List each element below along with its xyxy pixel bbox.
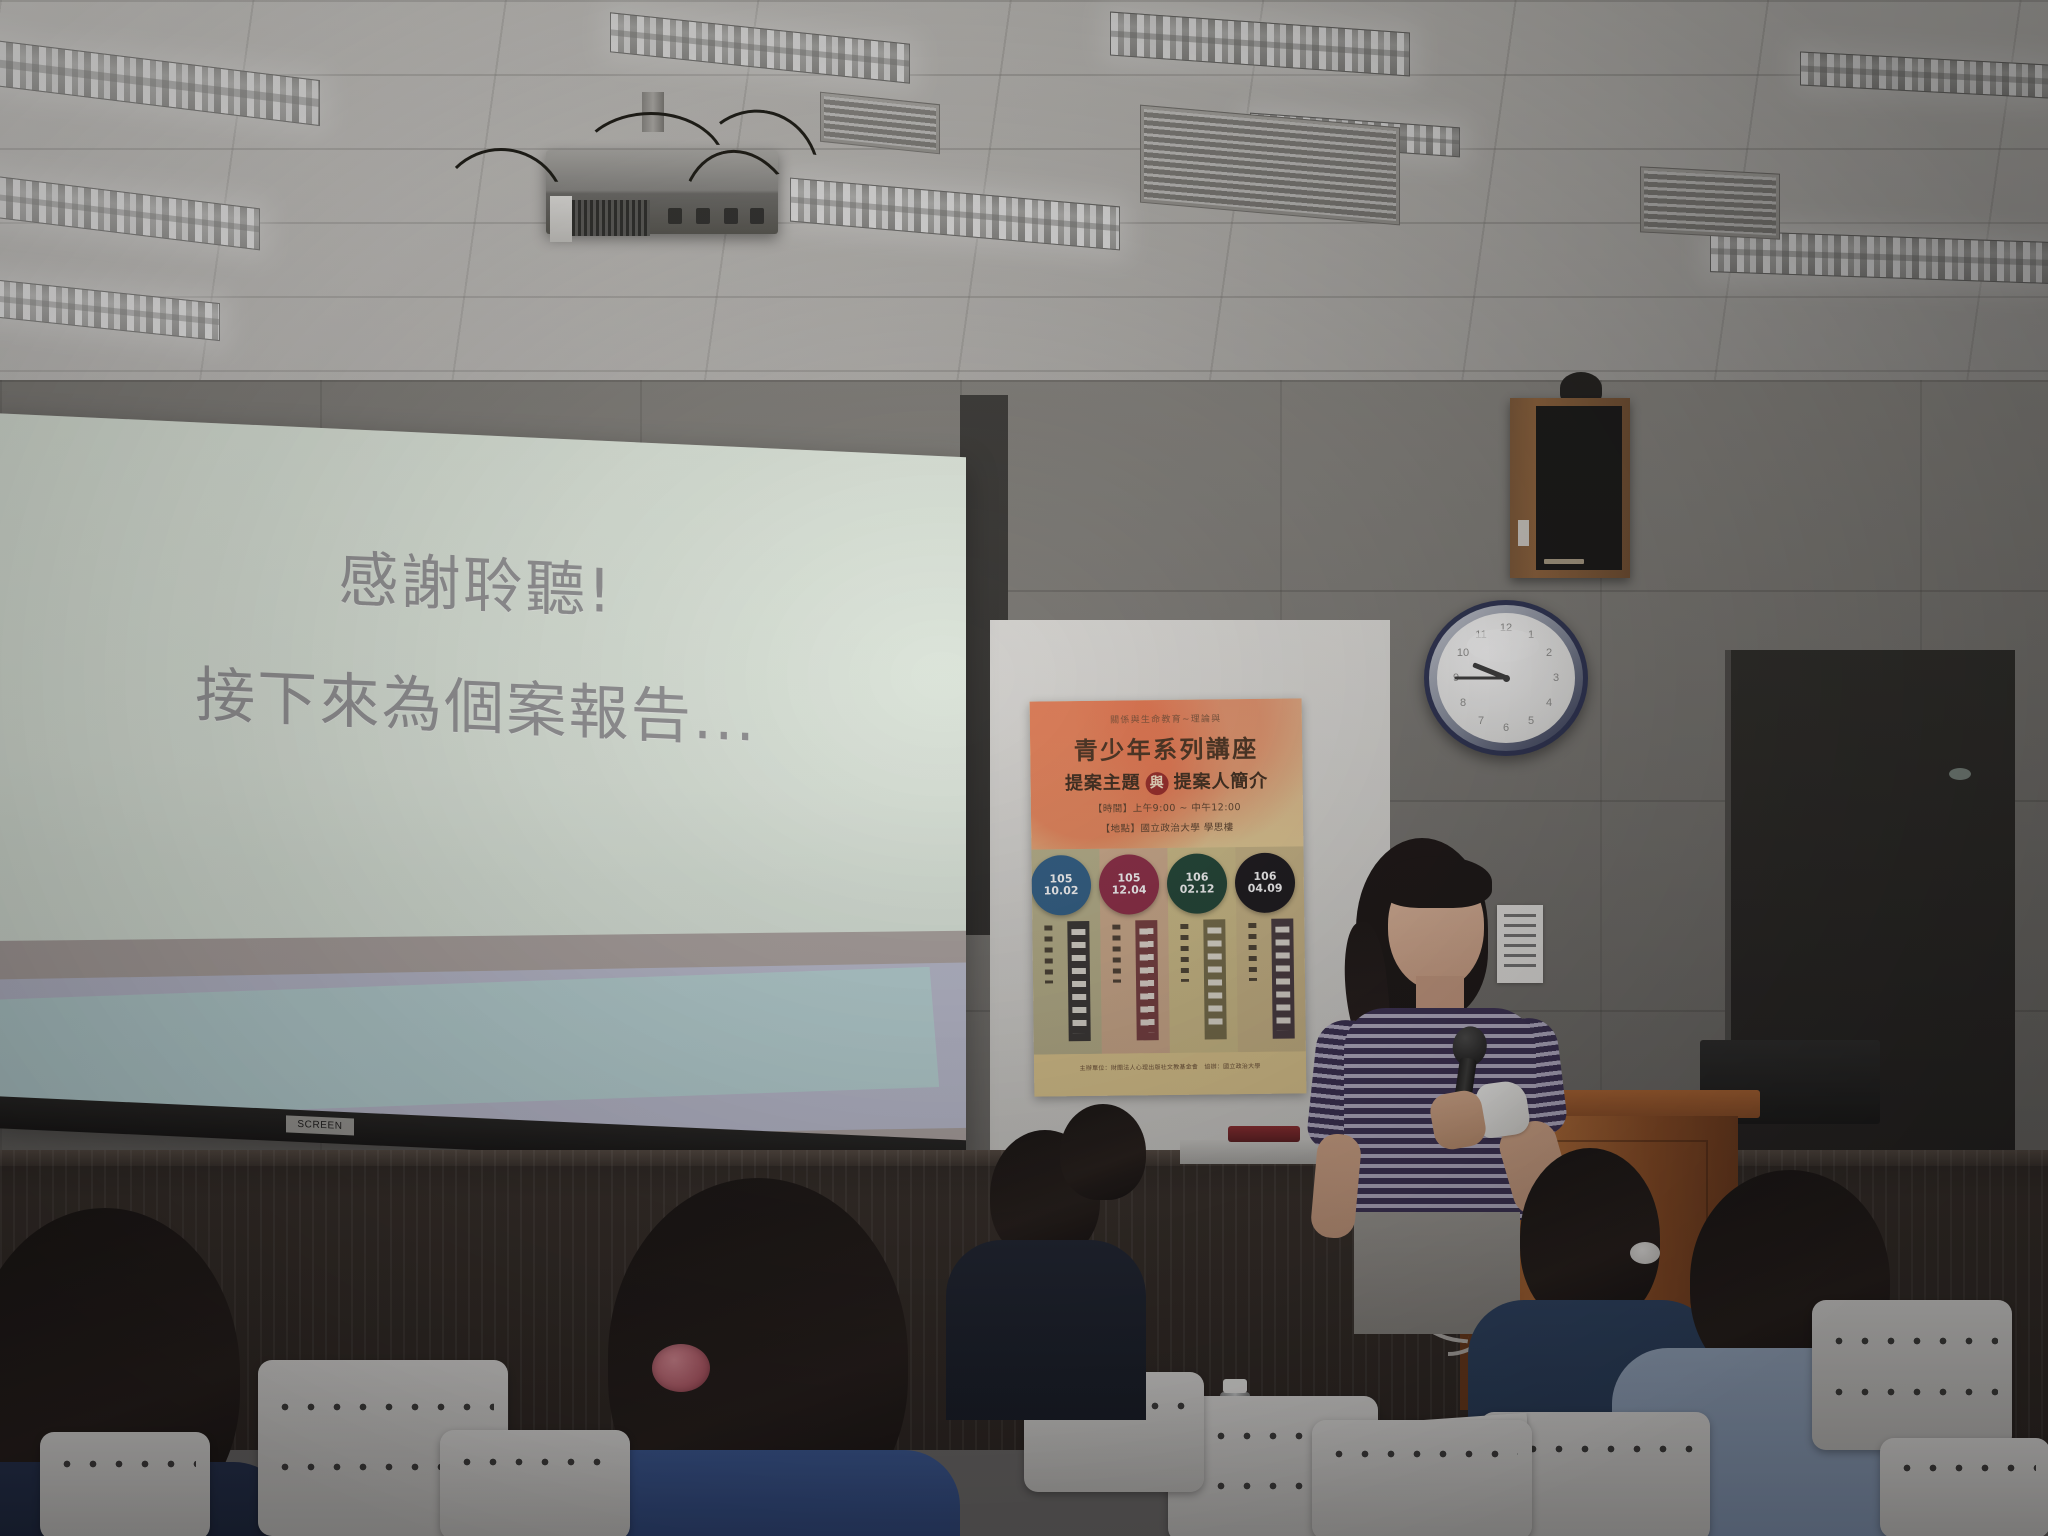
- poster-second-line: 提案主題與提案人簡介: [1030, 766, 1302, 796]
- poster-and-badge: 與: [1146, 771, 1169, 794]
- poster-topic-strip: [1204, 919, 1227, 1039]
- audience-chair[interactable]: [440, 1430, 630, 1536]
- poster-footer-text: 主辦單位：財團法人心理出版社文教基金會 協辦：國立政治大學: [1034, 1060, 1306, 1072]
- poster-session-column: 105 12.04: [1099, 848, 1169, 1054]
- session-date: 02.12: [1180, 883, 1215, 896]
- poster-speaker-name: [1249, 923, 1258, 981]
- door-handle[interactable]: [1949, 768, 1971, 780]
- clock-glass-glare: [1467, 629, 1539, 663]
- session-date: 10.02: [1044, 885, 1079, 898]
- poster-session-column: 105 10.02: [1031, 849, 1101, 1055]
- wall-clock: 12 1 2 3 4 5 6 7 8 9 10 11: [1424, 600, 1588, 756]
- audience-chair[interactable]: [1880, 1438, 2048, 1536]
- ceiling-shading: [0, 0, 2048, 400]
- white-hair-tie: [1630, 1242, 1660, 1264]
- audience-shoulders: [946, 1240, 1146, 1420]
- session-date: 12.04: [1112, 884, 1147, 897]
- projector-vent-grille: [572, 200, 650, 236]
- slide-text-block: 感謝聆聽! 接下來為個案報告...: [0, 531, 966, 764]
- red-object-on-ledge: [1228, 1126, 1300, 1142]
- poster-header: 關係與生命教育~理論與 青少年系列講座 提案主題與提案人簡介 【時間】上午9:0…: [1030, 698, 1304, 849]
- poster-subtitle: 關係與生命教育~理論與: [1030, 710, 1302, 726]
- slide-line-1: 感謝聆聽!: [0, 531, 966, 642]
- audience-chair[interactable]: [1812, 1300, 2012, 1450]
- presenter-fringe: [1380, 856, 1492, 908]
- bottle-cap: [1223, 1379, 1247, 1393]
- clock-face: 12 1 2 3 4 5 6 7 8 9 10 11: [1437, 613, 1575, 743]
- clock-minute-hand: [1454, 677, 1506, 680]
- poster-topic-left: 提案主題: [1065, 772, 1141, 794]
- poster-time: 【時間】上午9:00 ~ 中午12:00: [1031, 798, 1303, 815]
- audience-chair[interactable]: [40, 1432, 210, 1536]
- poster-topic-strip: [1068, 921, 1091, 1041]
- presentation-slide: 感謝聆聽! 接下來為個案報告...: [0, 413, 966, 1168]
- poster-topic-strip: [1136, 920, 1159, 1040]
- poster-speaker-name: [1045, 925, 1054, 983]
- clock-center-pin: [1503, 675, 1510, 682]
- wall-loudspeaker: [1510, 398, 1630, 578]
- slide-line-2: 接下來為個案報告...: [0, 653, 966, 764]
- poster-topic-strip: [1272, 918, 1295, 1038]
- poster-session-column: 106 02.12: [1167, 847, 1237, 1053]
- poster-speaker-name: [1113, 925, 1122, 983]
- audience-chair[interactable]: [1312, 1420, 1532, 1536]
- projection-screen: 感謝聆聽! 接下來為個案報告...: [0, 413, 966, 1168]
- session-date: 04.09: [1248, 883, 1283, 896]
- lecture-hall-photo: 感謝聆聽! 接下來為個案報告... SCREEN 關係與生命教育~理論與 青少年…: [0, 0, 2048, 1536]
- speaker-side-switch: [1518, 520, 1529, 546]
- poster-place: 【地點】國立政治大學 學思樓: [1031, 818, 1303, 835]
- speaker-grille: [1536, 406, 1622, 570]
- suspended-ceiling: [0, 0, 2048, 400]
- poster-session-column: 106 04.09: [1235, 846, 1305, 1052]
- poster-speaker-name: [1181, 924, 1190, 982]
- wall-poster: 關係與生命教育~理論與 青少年系列講座 提案主題與提案人簡介 【時間】上午9:0…: [1030, 698, 1307, 1096]
- ceiling-projector: [546, 126, 778, 234]
- speaker-brand-logo: [1544, 559, 1584, 564]
- poster-footer: 主辦單位：財團法人心理出版社文教基金會 協辦：國立政治大學: [1034, 1051, 1306, 1096]
- poster-topic-right: 提案人簡介: [1174, 771, 1269, 793]
- screen-brand-label: SCREEN: [286, 1115, 354, 1135]
- poster-session-columns: 105 10.02 105 12.04 106 02.12: [1031, 846, 1305, 1054]
- audience-head: [1060, 1104, 1146, 1200]
- pink-scrunchie: [652, 1344, 710, 1392]
- poster-title: 青少年系列講座: [1030, 728, 1302, 766]
